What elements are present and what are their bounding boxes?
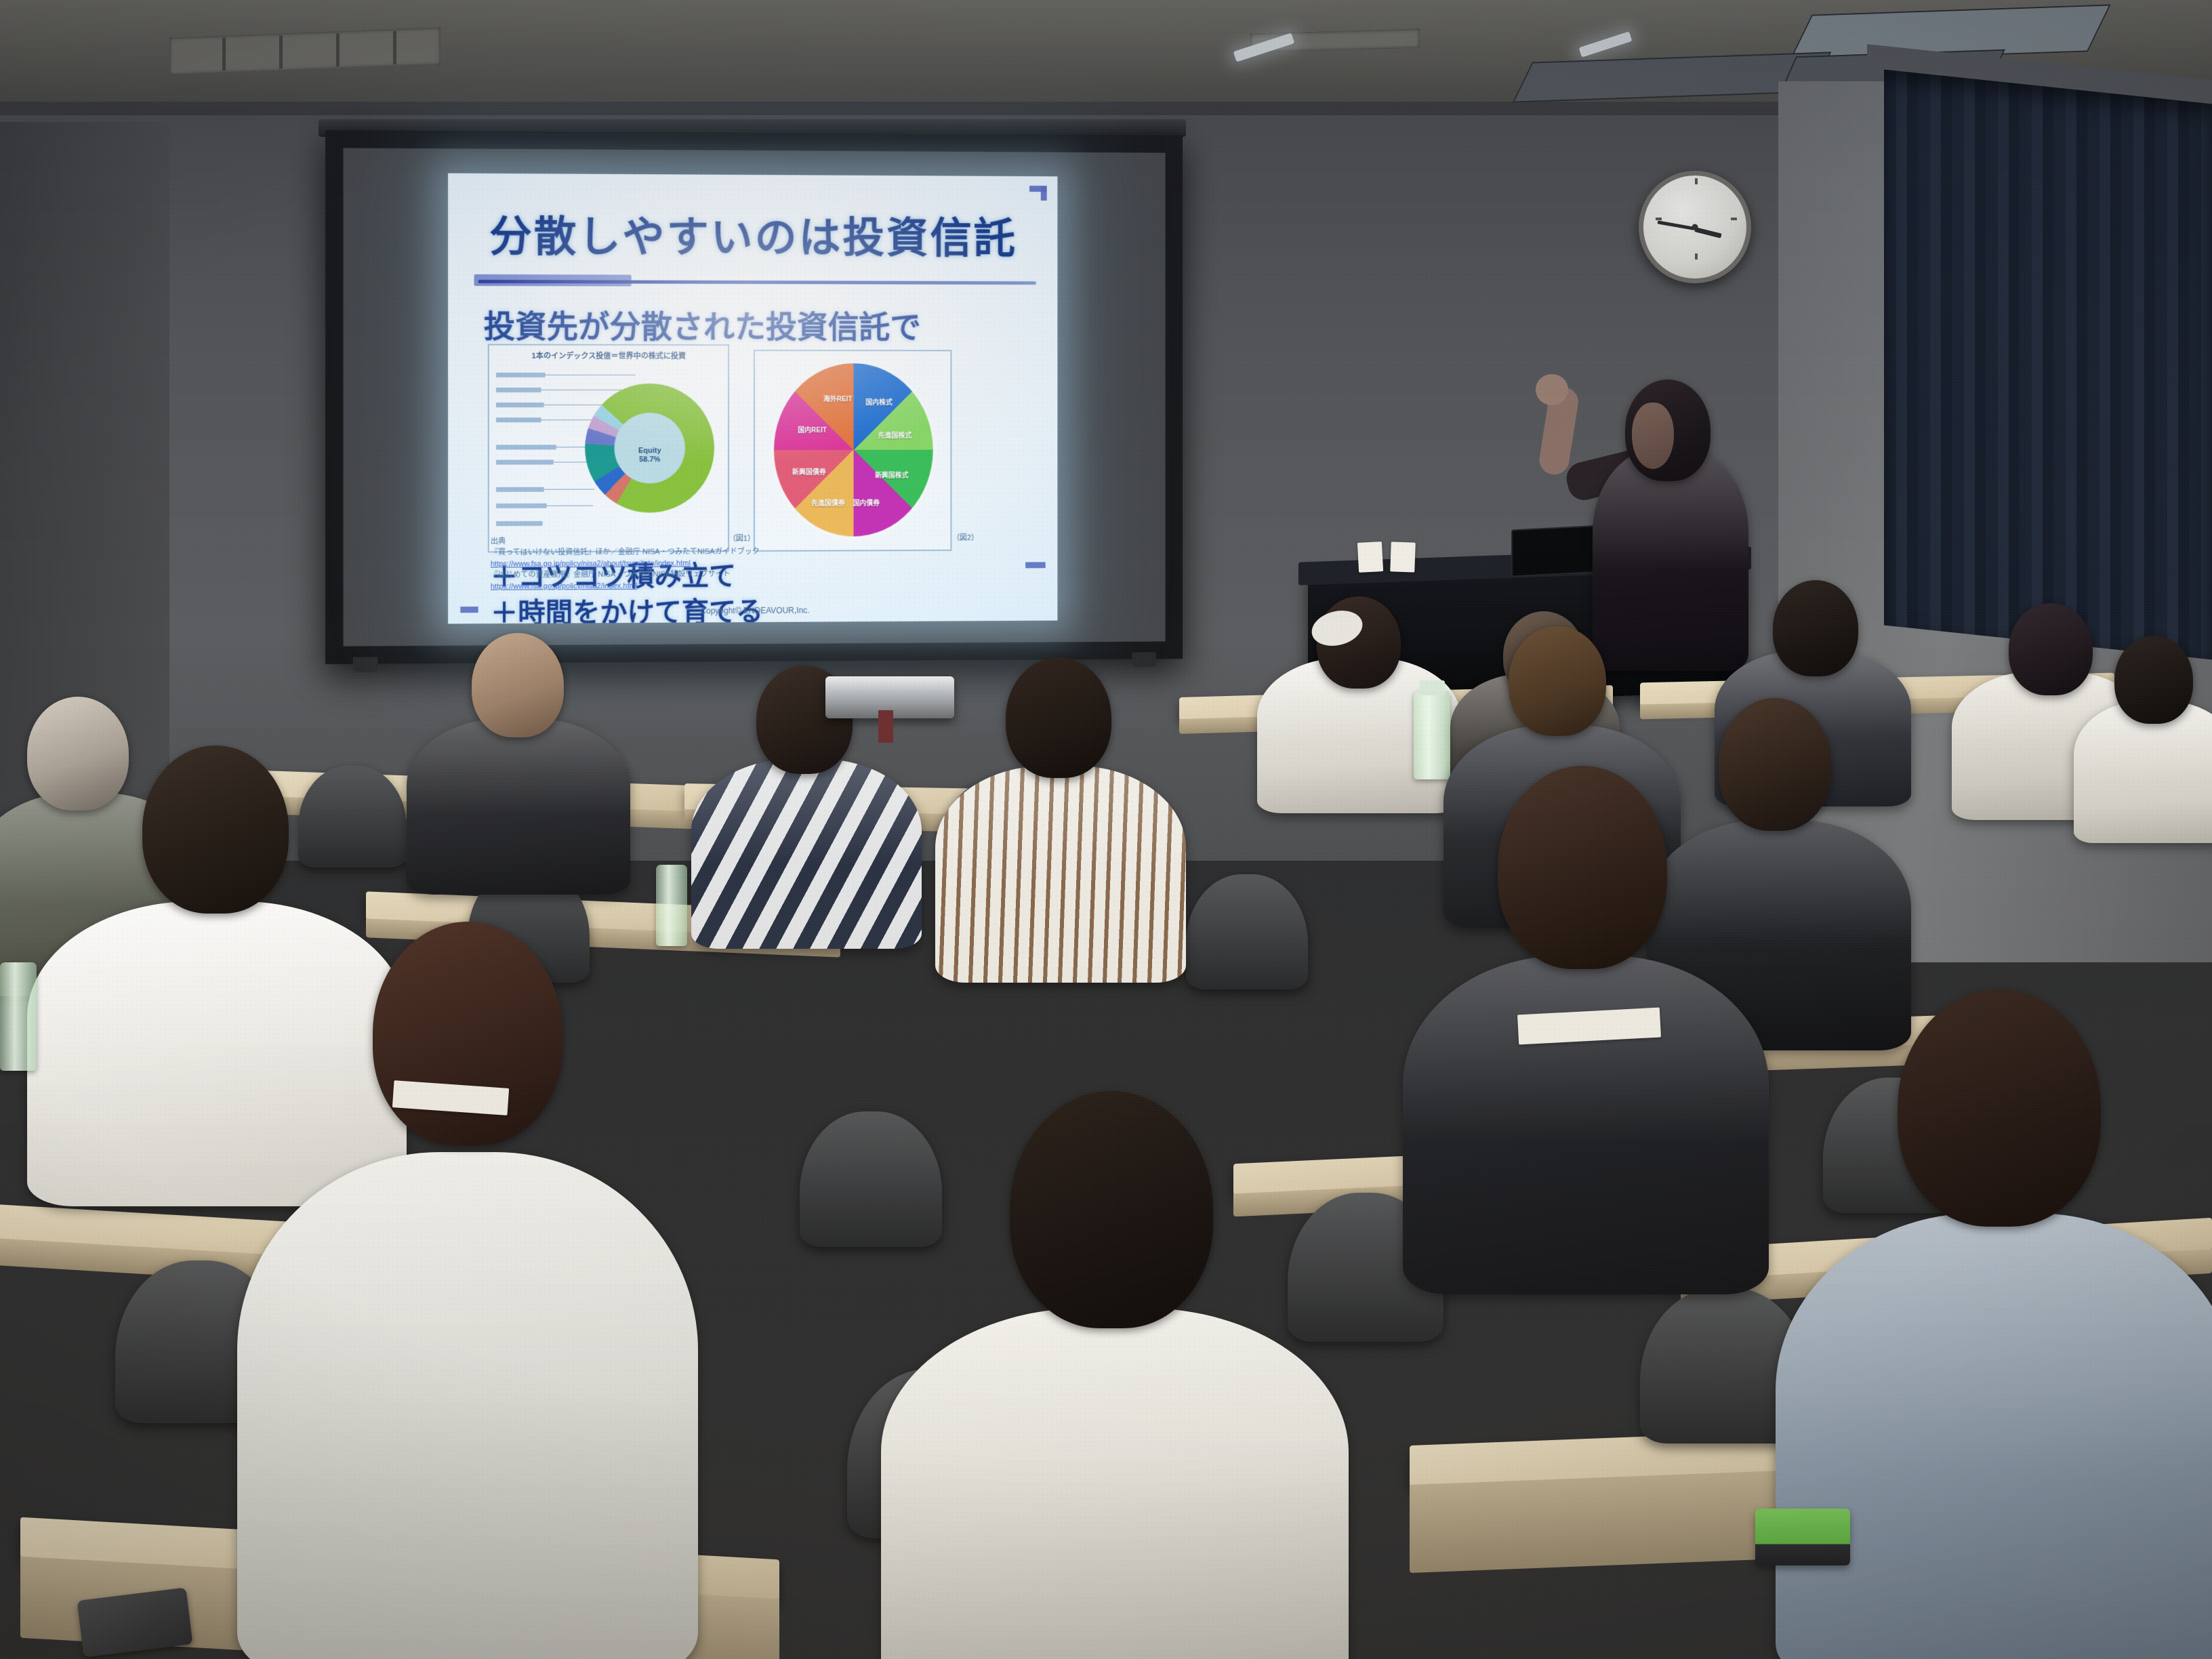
donut-label xyxy=(496,521,543,526)
projection-screen: 分散しやすいのは投資信託 投資先が分散された投資信託で 1本のインデックス投信＝… xyxy=(325,130,1183,664)
audience-body xyxy=(691,759,922,949)
source-link-2[interactable]: https://www.fsa.go.jp/policy/nisa2/index… xyxy=(491,579,925,592)
audience-head xyxy=(2114,636,2193,724)
pie-slice-label: 新興国債券 xyxy=(792,466,826,476)
pie-chart-caption: （図2） xyxy=(952,532,979,543)
donut-leader-line xyxy=(546,375,636,375)
window-curtain xyxy=(1884,70,2212,660)
audience-member xyxy=(407,630,637,867)
audience-member xyxy=(2074,630,2212,820)
presenter-face xyxy=(1632,403,1674,469)
water-bottle xyxy=(656,865,687,946)
audience-head xyxy=(1010,1091,1213,1328)
slide-corner-mark xyxy=(1041,186,1047,201)
audience-member xyxy=(935,657,1193,949)
audience-head xyxy=(472,633,564,737)
audience-body xyxy=(881,1308,1349,1659)
water-bottle xyxy=(0,962,37,1071)
pie-slice-label: 先進国株式 xyxy=(878,429,912,439)
audience-body xyxy=(407,718,630,895)
donut-label xyxy=(496,504,547,508)
audience-body xyxy=(1776,1213,2212,1659)
audience-member xyxy=(895,1091,1355,1659)
donut-chart-title: 1本のインデックス投信＝世界中の株式に投資 xyxy=(489,350,728,361)
slide-title: 分散しやすいのは投資信託 xyxy=(448,202,1057,266)
clock-minute-hand xyxy=(1657,220,1695,230)
pie-slice-label: 先進国債券 xyxy=(811,497,845,507)
presenter-hand xyxy=(1536,374,1568,405)
screen-tab xyxy=(353,657,378,672)
pie-slice-label: 国内株式 xyxy=(865,396,893,407)
donut-chart-box: 1本のインデックス投信＝世界中の株式に投資 xyxy=(488,344,729,552)
pie-slice-label: 新興国株式 xyxy=(875,469,909,479)
donut-label xyxy=(496,417,541,422)
pie-slice-label: 国内債券 xyxy=(853,497,880,507)
pie-chart: 国内株式 先進国株式 新興国株式 国内債券 先進国債券 新興国債券 国内REIT… xyxy=(774,363,933,537)
slide-source: 出典 『買ってはいけない投資信託』ほか／金融庁 NISA・つみたてNISAガイド… xyxy=(491,535,925,592)
green-pencil-case[interactable] xyxy=(1755,1509,1850,1565)
slide-corner-mark xyxy=(1025,562,1046,568)
pie-chart-box: 国内株式 先進国株式 新興国株式 国内債券 先進国債券 新興国債券 国内REIT… xyxy=(754,350,951,552)
audience-head xyxy=(142,745,289,914)
audience-body xyxy=(935,766,1186,983)
audience-body xyxy=(1403,956,1769,1294)
audience-head xyxy=(1898,989,2101,1227)
projector-mount xyxy=(878,710,893,743)
donut-label xyxy=(496,445,556,449)
wall-clock xyxy=(1639,171,1751,283)
chair xyxy=(1186,874,1308,989)
handout-paper xyxy=(1390,541,1416,572)
donut-label xyxy=(496,403,544,407)
donut-label xyxy=(496,388,541,392)
audience-member xyxy=(258,922,678,1659)
clock-hour-hand xyxy=(1694,227,1722,238)
handout-paper xyxy=(1357,541,1383,573)
pie-slice-label: 国内REIT xyxy=(798,424,827,434)
donut-chart: Equity58.7% xyxy=(585,384,714,513)
pie-slice-label: 海外REIT xyxy=(823,393,853,403)
donut-center-label: Equity58.7% xyxy=(638,447,661,464)
donut-label xyxy=(496,487,544,492)
audience-head xyxy=(1498,766,1667,969)
audience-body xyxy=(237,1152,698,1659)
donut-label xyxy=(496,373,546,377)
audience-head xyxy=(1773,580,1858,676)
audience-member xyxy=(1789,989,2212,1659)
audience-head xyxy=(1006,657,1111,778)
donut-label xyxy=(496,459,554,464)
bottle-cap xyxy=(1419,680,1445,695)
slide-subtitle: 投資先が分散された投資信託で xyxy=(484,302,921,347)
audience-head xyxy=(1509,626,1606,736)
lecture-room-photo: 分散しやすいのは投資信託 投資先が分散された投資信託で 1本のインデックス投信＝… xyxy=(0,0,2212,1659)
slide: 分散しやすいのは投資信託 投資先が分散された投資信託で 1本のインデックス投信＝… xyxy=(448,173,1057,624)
